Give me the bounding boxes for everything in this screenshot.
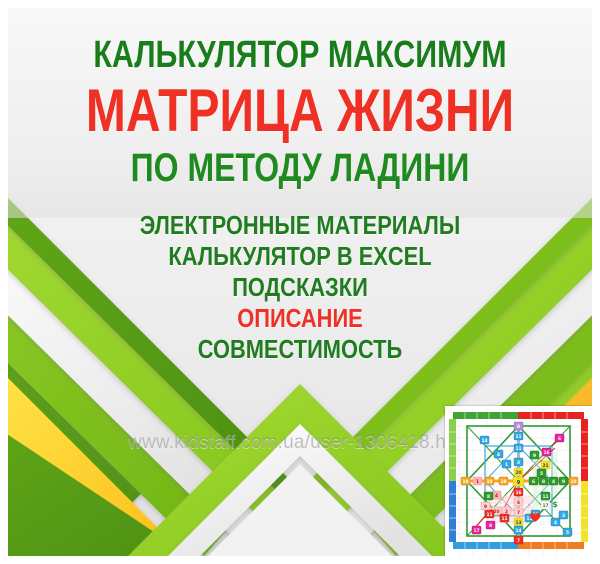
svg-text:11: 11: [515, 434, 521, 440]
svg-text:4: 4: [552, 479, 555, 485]
svg-text:6: 6: [558, 436, 561, 442]
svg-text:5: 5: [566, 530, 569, 536]
svg-text:7: 7: [517, 510, 520, 516]
svg-text:14: 14: [515, 528, 521, 534]
svg-text:20: 20: [515, 470, 521, 476]
svg-text:11: 11: [501, 516, 507, 522]
svg-text:11: 11: [486, 512, 492, 518]
svg-text:11: 11: [542, 494, 548, 500]
svg-text:21: 21: [542, 463, 548, 469]
poster-canvas: КАЛЬКУЛЯТОР МАКСИМУМ МАТРИЦА ЖИЗНИ ПО МЕ…: [8, 8, 592, 556]
svg-text:3: 3: [562, 513, 565, 519]
poster-root: КАЛЬКУЛЯТОР МАКСИМУМ МАТРИЦА ЖИЗНИ ПО МЕ…: [0, 0, 600, 564]
svg-text:9: 9: [562, 479, 565, 485]
svg-text:17: 17: [473, 528, 479, 534]
svg-text:8: 8: [487, 494, 490, 500]
svg-text:10: 10: [570, 479, 576, 485]
svg-text:3: 3: [517, 460, 520, 466]
svg-text:10: 10: [486, 479, 492, 485]
svg-text:20: 20: [493, 509, 499, 515]
svg-text:16: 16: [515, 490, 521, 496]
svg-text:18: 18: [462, 479, 468, 485]
svg-text:13: 13: [515, 520, 521, 526]
svg-text:6: 6: [517, 500, 520, 506]
svg-text:8: 8: [489, 523, 492, 529]
svg-text:16: 16: [543, 450, 549, 456]
svg-text:7: 7: [517, 538, 520, 544]
svg-text:9: 9: [533, 453, 536, 459]
matrix-of-life-thumbnail[interactable]: 8 11 11 3 20 9 16 6: [445, 406, 592, 556]
svg-text:8: 8: [517, 424, 520, 430]
svg-text:19: 19: [500, 479, 506, 485]
svg-text:17: 17: [542, 503, 548, 509]
svg-text:4: 4: [554, 520, 557, 526]
svg-text:1: 1: [505, 462, 508, 468]
svg-text:8: 8: [542, 479, 545, 485]
svg-text:14: 14: [481, 438, 487, 444]
svg-text:6: 6: [532, 479, 535, 485]
svg-text:4: 4: [495, 493, 498, 499]
svg-text:4: 4: [497, 452, 500, 458]
dollar-sign-icon: $: [552, 500, 558, 509]
svg-text:9: 9: [484, 504, 487, 510]
svg-text:9: 9: [517, 480, 521, 486]
svg-text:11: 11: [515, 446, 521, 452]
svg-text:$: $: [552, 500, 558, 509]
svg-text:1: 1: [476, 479, 479, 485]
svg-text:5: 5: [540, 471, 543, 477]
